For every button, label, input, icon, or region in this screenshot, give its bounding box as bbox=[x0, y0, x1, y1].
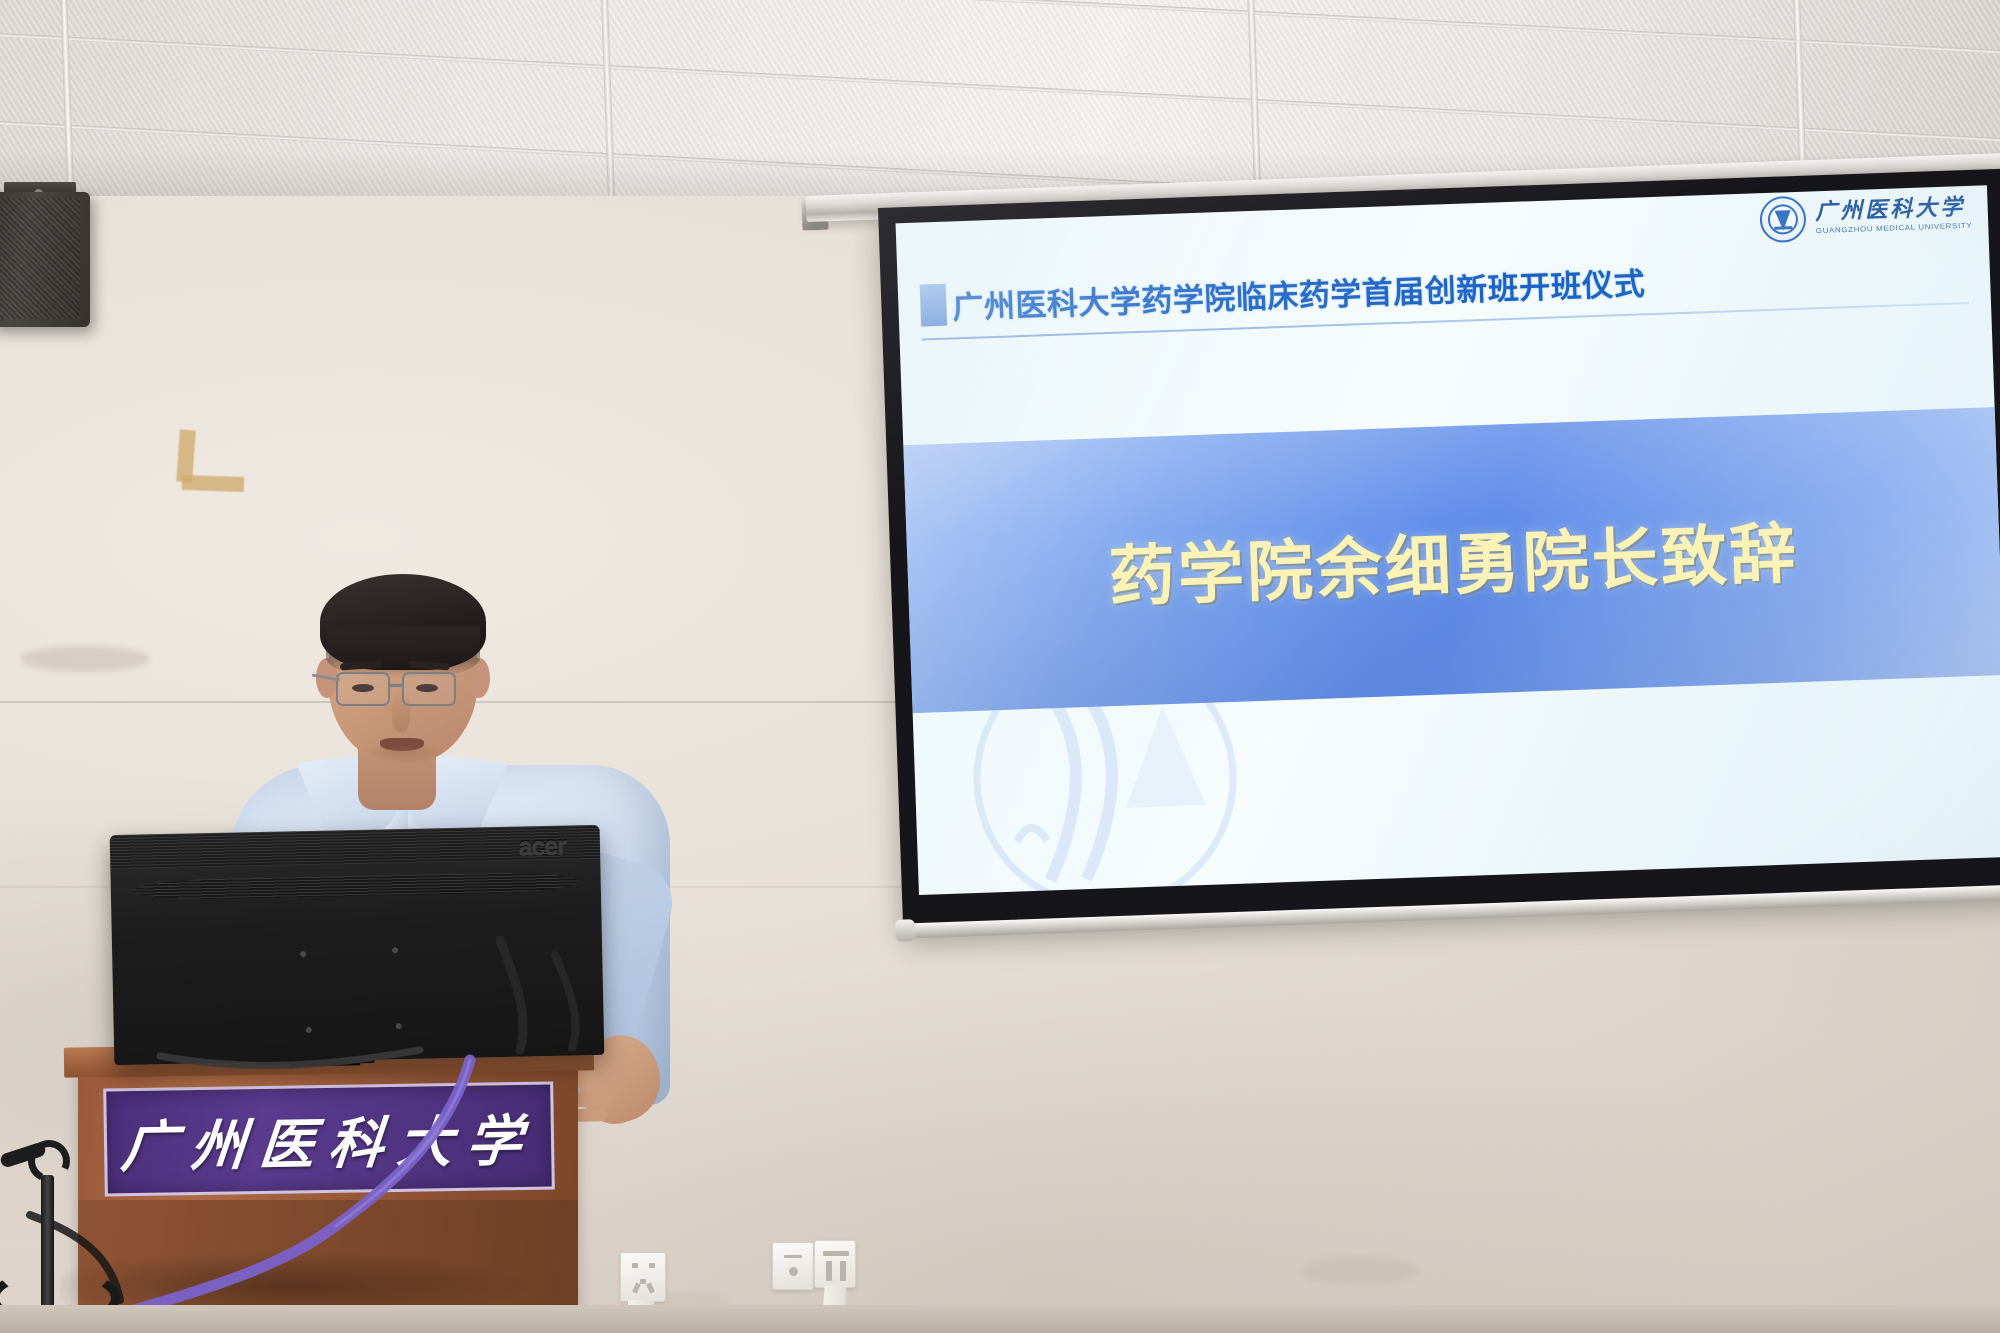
lectern-name-plaque: 广州医科大学 bbox=[103, 1081, 555, 1196]
slide-header-title: 广州医科大学药学院临床药学首届创新班开班仪式 bbox=[952, 258, 1646, 327]
wall-scuff bbox=[1300, 1256, 1420, 1286]
power-outlet-left[interactable] bbox=[620, 1252, 666, 1302]
wall-speaker bbox=[0, 192, 90, 327]
chin-shadow bbox=[346, 746, 460, 774]
floor-strip bbox=[0, 1305, 2000, 1333]
university-name-cn: 广州医科大学 bbox=[1815, 196, 1972, 223]
hair bbox=[320, 574, 486, 670]
lectern-plaque-text: 广州医科大学 bbox=[118, 1096, 539, 1183]
header-divider bbox=[922, 302, 1969, 341]
screen-weight-bar-end bbox=[895, 919, 916, 942]
av-port-panel[interactable] bbox=[814, 1240, 856, 1288]
slide-main-title: 药学院余细勇院长致辞 bbox=[1107, 500, 1800, 620]
projector-screen: 广州医科大学药学院临床药学首届创新班开班仪式 广州医科大学 GUANGZHOU … bbox=[878, 169, 2000, 948]
slide-title-band: 药学院余细勇院长致辞 bbox=[903, 407, 2000, 713]
acer-monitor-rear: acer bbox=[110, 825, 605, 1065]
university-logo: 广州医科大学 GUANGZHOU MEDICAL UNIVERSITY bbox=[1760, 190, 1973, 243]
eyeglasses-lens-left bbox=[336, 672, 390, 706]
slide-header: 广州医科大学药学院临床药学首届创新班开班仪式 bbox=[897, 235, 1991, 339]
eyeglasses-lens-right bbox=[402, 672, 456, 706]
monitor-vent bbox=[133, 871, 579, 900]
university-name-en: GUANGZHOU MEDICAL UNIVERSITY bbox=[1816, 222, 1973, 235]
slide-watermark-icon bbox=[950, 623, 1260, 895]
projected-slide: 广州医科大学药学院临床药学首届创新班开班仪式 广州医科大学 GUANGZHOU … bbox=[896, 185, 2000, 895]
acer-brand-logo: acer bbox=[518, 832, 566, 862]
screen-black-border: 广州医科大学药学院临床药学首届创新班开班仪式 广州医科大学 GUANGZHOU … bbox=[878, 169, 2000, 930]
lecture-hall-photo: 广州医科大学药学院临床药学首届创新班开班仪式 广州医科大学 GUANGZHOU … bbox=[0, 0, 2000, 1333]
university-seal-icon bbox=[1760, 196, 1808, 244]
eyeglasses-bridge bbox=[390, 684, 404, 687]
header-accent-tab bbox=[920, 284, 947, 327]
nose bbox=[392, 692, 410, 732]
tape-mark bbox=[182, 475, 244, 492]
wall-switch-panel[interactable] bbox=[772, 1242, 814, 1290]
wall-scuff bbox=[20, 646, 150, 672]
slide-content: 广州医科大学药学院临床药学首届创新班开班仪式 广州医科大学 GUANGZHOU … bbox=[896, 185, 2000, 895]
university-logo-text: 广州医科大学 GUANGZHOU MEDICAL UNIVERSITY bbox=[1815, 196, 1973, 235]
